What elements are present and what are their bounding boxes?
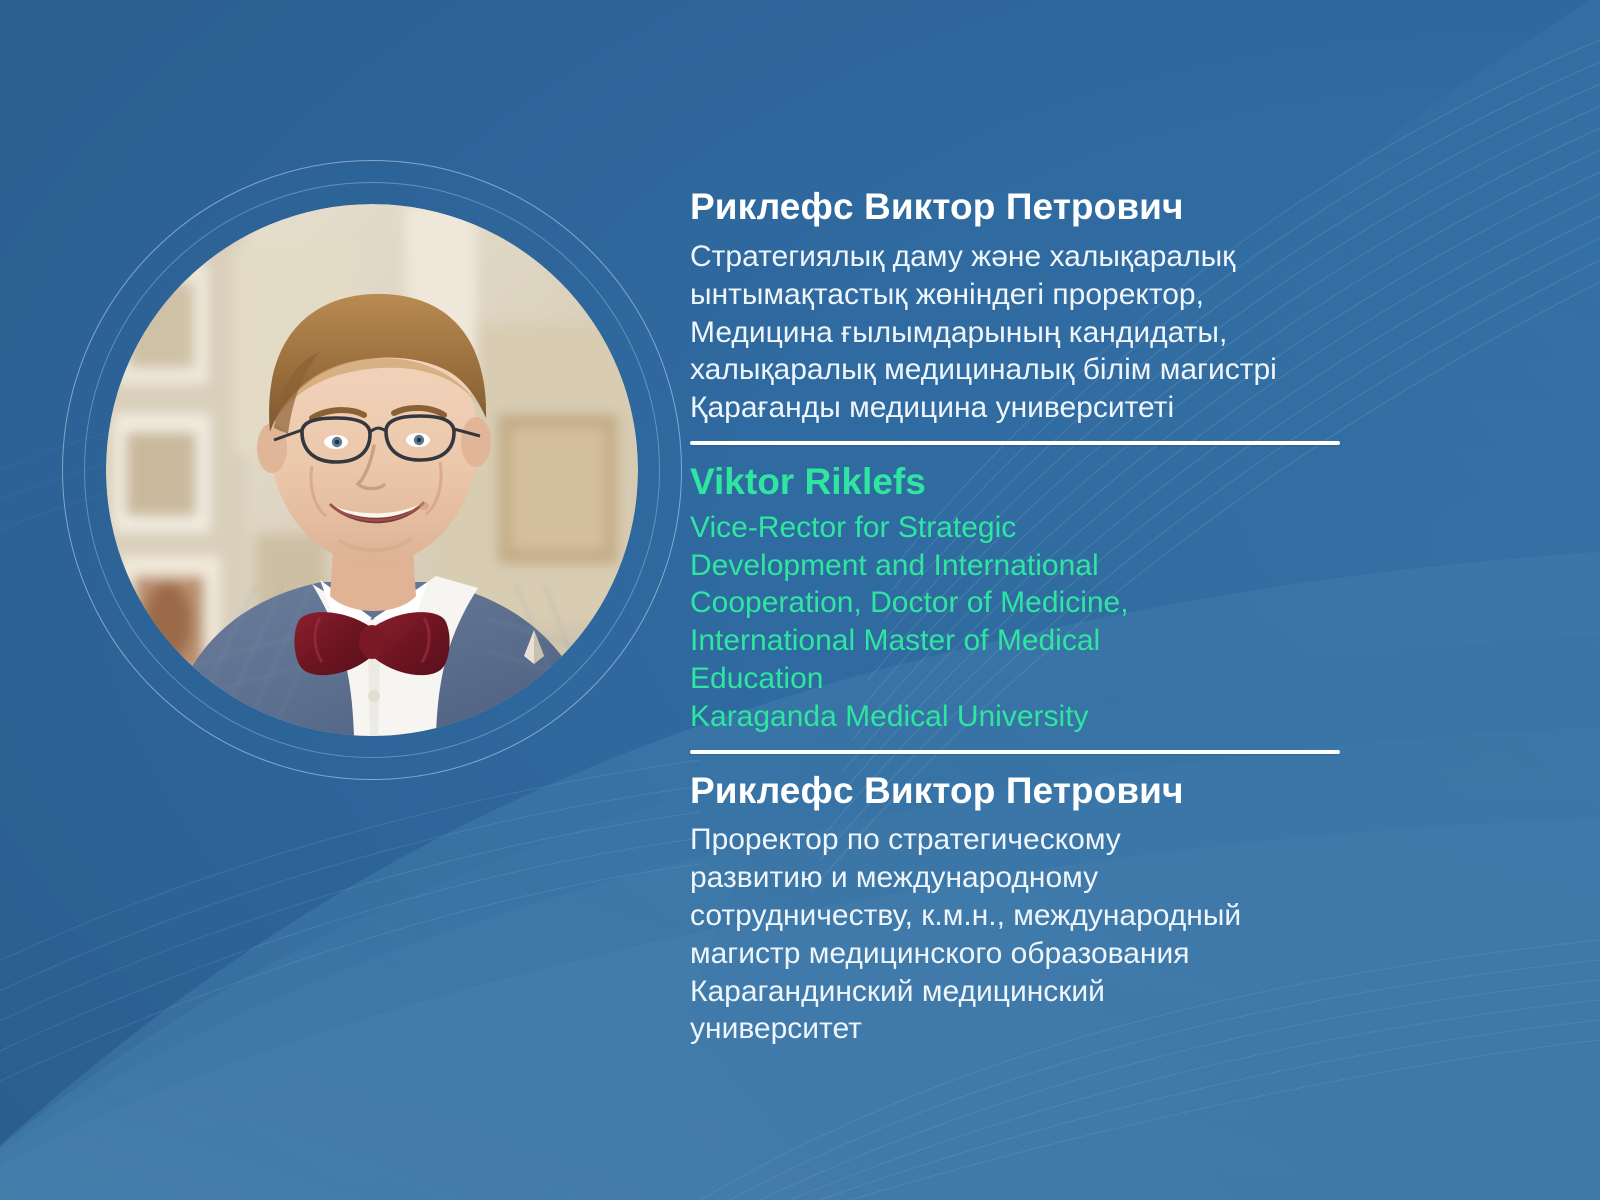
affiliation-line: университет: [690, 1010, 1430, 1048]
title-line: ынтымақтастық жөніндегі проректор,: [690, 276, 1430, 314]
title-line: халықаралық медициналық білім магистрі: [690, 351, 1430, 389]
title-line: сотрудничеству, к.м.н., международный: [690, 897, 1430, 935]
title-line: Медицина ғылымдарының кандидаты,: [690, 314, 1430, 352]
affiliation-line: Қарағанды медицина университеті: [690, 389, 1430, 427]
title-line: развитию и международному: [690, 859, 1430, 897]
title-line: Vice-Rector for Strategic: [690, 509, 1430, 547]
speaker-slide: Риклефс Виктор Петрович Стратегиялық дам…: [0, 0, 1600, 1200]
speaker-name-ru: Риклефс Виктор Петрович: [690, 770, 1430, 813]
speaker-title-en: Vice-Rector for Strategic Development an…: [690, 509, 1430, 736]
portrait-photo: [106, 204, 638, 736]
speaker-name-kk: Риклефс Виктор Петрович: [690, 186, 1430, 229]
divider-kk-en: [690, 441, 1340, 445]
title-line: International Master of Medical: [690, 622, 1430, 660]
title-line: Development and International: [690, 547, 1430, 585]
title-line: Стратегиялық даму және халықаралық: [690, 238, 1430, 276]
speaker-title-ru: Проректор по стратегическому развитию и …: [690, 821, 1430, 1048]
speaker-portrait: [62, 160, 682, 780]
title-line: Проректор по стратегическому: [690, 821, 1430, 859]
affiliation-line: Карагандинский медицинский: [690, 973, 1430, 1011]
info-block-ru: Риклефс Виктор Петрович Проректор по стр…: [690, 770, 1430, 1049]
title-line: Cooperation, Doctor of Medicine,: [690, 584, 1430, 622]
title-line: магистр медицинского образования: [690, 935, 1430, 973]
speaker-title-kk: Стратегиялық даму және халықаралық ынтым…: [690, 238, 1430, 427]
affiliation-line: Karaganda Medical University: [690, 698, 1430, 736]
speaker-name-en: Viktor Riklefs: [690, 461, 1430, 504]
divider-en-ru: [690, 750, 1340, 754]
title-line: Education: [690, 660, 1430, 698]
info-block-kk: Риклефс Виктор Петрович Стратегиялық дам…: [690, 186, 1430, 427]
info-block-en: Viktor Riklefs Vice-Rector for Strategic…: [690, 461, 1430, 736]
speaker-info: Риклефс Виктор Петрович Стратегиялық дам…: [690, 186, 1430, 1048]
